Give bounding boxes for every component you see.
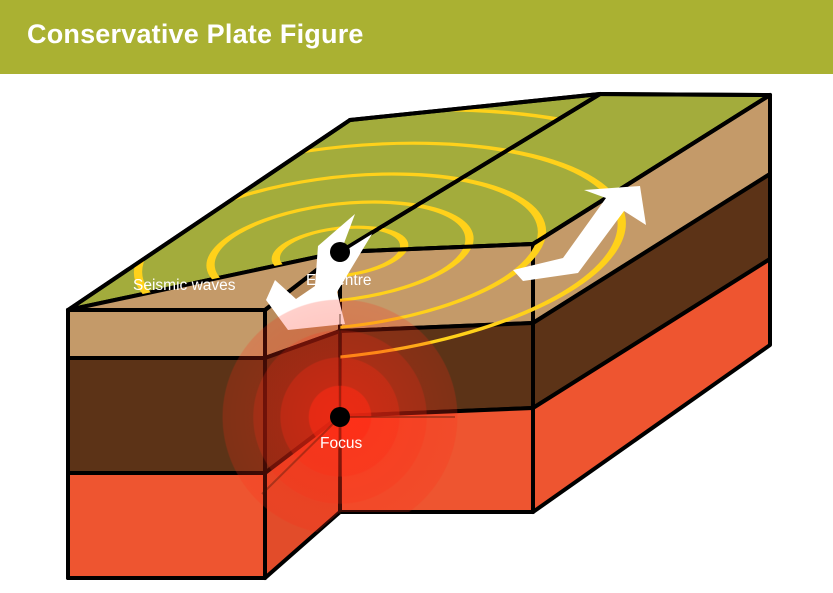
seismic-waves-label: Seismic waves: [133, 277, 236, 294]
left-front-sediment: [68, 310, 265, 358]
conservative-plate-block-diagram: Seismic waves Epicentre Focus: [0, 74, 833, 593]
figure-stage: Seismic waves Epicentre Focus: [0, 74, 833, 593]
figure-page: Conservative Plate Figure: [0, 0, 833, 593]
focus-label: Focus: [320, 435, 362, 452]
left-front-mantle: [68, 473, 265, 578]
focus-marker-dot: [330, 407, 350, 427]
epicentre-label: Epicentre: [306, 272, 371, 289]
right-block-back-edge: [600, 94, 770, 95]
epicentre-marker-dot: [330, 242, 350, 262]
header-bar: Conservative Plate Figure: [0, 0, 833, 74]
page-title: Conservative Plate Figure: [27, 19, 364, 50]
